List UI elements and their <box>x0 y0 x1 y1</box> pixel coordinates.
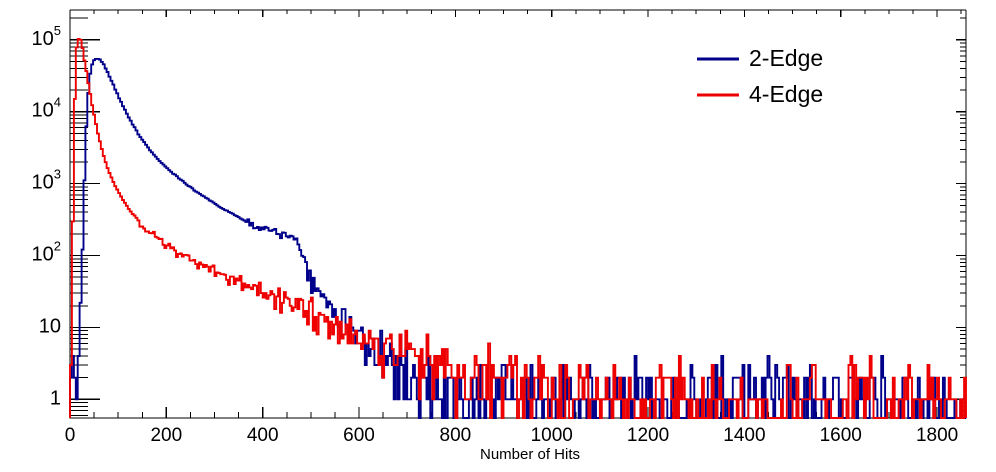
y-tick-label: 1 <box>50 388 61 410</box>
x-tick-label: 1000 <box>531 425 573 446</box>
x-tick-label: 400 <box>247 425 279 446</box>
x-tick-label: 0 <box>65 425 76 446</box>
y-tick-label: 10 <box>39 316 61 338</box>
x-tick-label: 1800 <box>916 425 958 446</box>
x-tick-label: 1400 <box>723 425 765 446</box>
plot-canvas: 110102103104105 020040060080010001200140… <box>0 0 996 472</box>
x-axis-title: Number of Hits <box>480 446 580 463</box>
legend-label-four_edge: 4-Edge <box>749 81 823 107</box>
x-tick-label: 800 <box>440 425 472 446</box>
histogram-plot: 110102103104105 020040060080010001200140… <box>0 0 996 472</box>
x-tick-label: 600 <box>343 425 375 446</box>
x-tick-label: 200 <box>150 425 182 446</box>
legend-label-two_edge: 2-Edge <box>749 45 823 71</box>
x-tick-label: 1200 <box>627 425 669 446</box>
x-tick-label: 1600 <box>820 425 862 446</box>
